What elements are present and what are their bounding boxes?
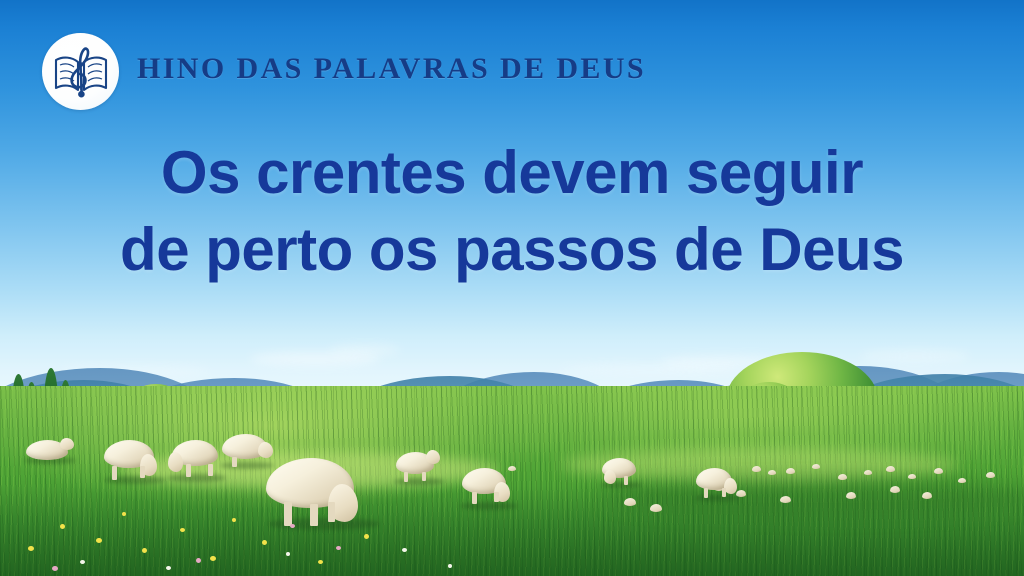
page-title-line-1: Os crentes devem seguir	[0, 134, 1024, 211]
sheep-distant	[812, 464, 820, 469]
sheep-distant	[846, 492, 856, 499]
sheep-distant	[780, 496, 791, 503]
sheep-grazing-foreground	[266, 458, 384, 530]
flower	[364, 534, 369, 539]
brand-title: HINO DAS PALAVRAS DE DEUS	[137, 52, 646, 86]
flower	[60, 524, 65, 529]
sheep-distant	[986, 472, 995, 478]
sheep-distant	[838, 474, 847, 480]
flower	[448, 564, 452, 568]
sheep-standing	[696, 468, 740, 502]
sheep-distant	[886, 466, 895, 472]
open-book-treble-clef-icon	[53, 46, 109, 98]
sheep-distant	[786, 468, 795, 474]
flower	[142, 548, 147, 553]
flower	[196, 558, 201, 563]
cloud-wisp	[330, 345, 400, 355]
flower	[286, 552, 290, 556]
flower	[318, 560, 323, 564]
flower	[402, 548, 407, 552]
sheep-grazing	[104, 440, 166, 484]
sheep-grazing	[462, 468, 518, 510]
flower	[28, 546, 34, 551]
flower	[96, 538, 102, 543]
sheep-distant	[624, 498, 636, 506]
flower	[52, 566, 58, 571]
flower	[180, 528, 185, 532]
sheep-standing	[396, 450, 444, 484]
flower	[290, 524, 295, 528]
sheep-distant	[890, 486, 900, 493]
sheep-grazing	[168, 440, 226, 482]
flower	[336, 546, 341, 550]
flower	[210, 556, 216, 561]
sheep-distant	[752, 466, 761, 472]
logo-badge[interactable]	[42, 33, 119, 110]
hymn-title-card: HINO DAS PALAVRAS DE DEUS Os crentes dev…	[0, 0, 1024, 576]
flower	[232, 518, 236, 522]
flower	[122, 512, 126, 516]
sheep-distant	[650, 504, 662, 512]
sheep-distant	[768, 470, 776, 475]
flower	[166, 566, 171, 570]
flower	[80, 560, 85, 564]
page-title: Os crentes devem seguir de perto os pass…	[0, 134, 1024, 288]
sheep-standing	[602, 458, 642, 488]
page-title-line-2: de perto os passos de Deus	[0, 211, 1024, 288]
sheep-distant	[908, 474, 916, 479]
sheep-distant	[864, 470, 872, 475]
sheep-resting	[26, 438, 72, 462]
sheep-distant	[922, 492, 932, 499]
sheep-distant	[934, 468, 943, 474]
flower	[262, 540, 267, 545]
sheep-distant	[958, 478, 966, 483]
cloud-wisp	[560, 364, 740, 374]
